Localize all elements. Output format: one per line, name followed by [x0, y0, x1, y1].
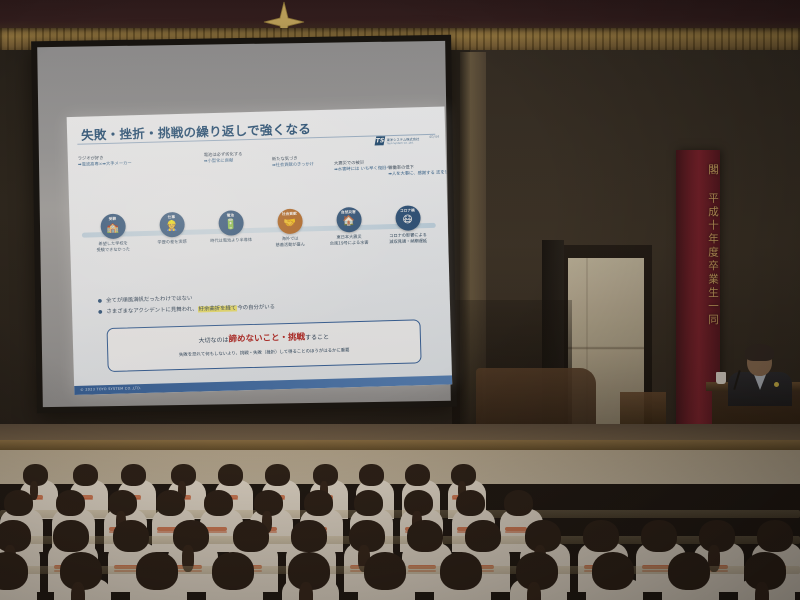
student-hair: [354, 490, 383, 516]
bullet-dot-icon: ●: [98, 297, 103, 307]
annotation-0: ラジオが好き➡電波高専×➡大手メーカー: [78, 155, 132, 169]
student-hair: [440, 552, 483, 590]
audience-student: [54, 552, 113, 600]
mask-icon: コロナ禍😷: [395, 205, 421, 231]
timeline-node-0: 受験🏫希望した学校を受験できなかった: [83, 213, 142, 254]
banner-text: 閣 平成十年度卒業生一同: [676, 164, 720, 328]
logo-mark: TS: [375, 136, 386, 145]
company-logo: TS 東洋システム株式会社 Toyo System Co.,Ltd.: [375, 135, 419, 145]
annotation-4: 稼働率の低下➡人を大事に、感謝する 志を忘れない: [388, 164, 452, 179]
student-hair: [0, 520, 31, 552]
logo-company-name-en: Toyo System Co.,Ltd.: [387, 141, 420, 145]
student-hair: [757, 520, 793, 552]
student-hair: [668, 552, 711, 590]
timeline-node-5: コロナ禍😷コロナの影響による減収見通・納期遅延: [378, 205, 437, 246]
student-hair: [204, 490, 233, 516]
timeline-label-5: コロナの影響による減収見通・納期遅延: [379, 232, 437, 246]
bullet-dot-icon: ●: [98, 308, 103, 318]
timeline-label-0: 希望した学校を受験できなかった: [84, 240, 142, 254]
student-hair: [4, 490, 33, 516]
student-hair: [641, 520, 677, 552]
annotation-3: 大震災での被災➡水害時には いち早く復旧へ: [334, 160, 391, 174]
student-ponytail: [755, 582, 769, 600]
student-hair: [136, 552, 179, 590]
student-hair: [583, 520, 619, 552]
student-hair: [233, 520, 269, 552]
audience-student: [662, 552, 721, 600]
student-hair: [407, 520, 443, 552]
disaster-icon: 自然災害🏠: [336, 207, 362, 233]
audience-student: [206, 552, 265, 600]
student-hair: [364, 552, 407, 590]
student-hair: [405, 464, 429, 486]
conclusion-tail: すること: [305, 334, 329, 342]
lapel-pin-icon: [774, 382, 779, 387]
student-hair: [73, 464, 97, 486]
audience-student: [282, 552, 341, 600]
timeline: 受験🏫希望した学校を受験できなかった仕事👷学歴の差を実感電池🔋時代は電池より半導…: [77, 191, 441, 293]
presentation-slide: 失敗・挫折・挑戦の繰り返しで強くなる TS 東洋システム株式会社 Toyo Sy…: [67, 107, 453, 395]
piano: [476, 368, 596, 428]
student-hair: [212, 552, 255, 590]
conclusion-main: 大切なのは諦めないこと・挑戦すること: [108, 327, 420, 348]
bullet-list: ●全てが順風満帆だったわけではない●さまざまなアクシデントに見舞われ、紆余曲折を…: [98, 287, 434, 317]
conclusion-sub: 失敗を恐れて何もしないより、挑戦・失敗（挫折）して得ることのほうがはるかに重要: [108, 345, 420, 360]
student-hair: [291, 520, 327, 552]
audience-student: [738, 552, 797, 600]
audience-student: [434, 552, 493, 600]
audience-area: [0, 424, 800, 600]
timeline-node-3: 社会貢献🤝海外では慈善活動が盛ん: [260, 208, 319, 249]
conclusion-box: 大切なのは諦めないこと・挑戦すること 失敗を恐れて何もしないより、挑戦・失敗（挫…: [107, 319, 422, 372]
timeline-label-1: 学歴の差を実感: [143, 238, 201, 246]
timeline-label-3: 海外では慈善活動が盛ん: [261, 235, 319, 249]
timeline-node-2: 電池🔋時代は電池より半導体: [201, 210, 260, 245]
timeline-label-4: 東日本大震災台風19号による水害: [320, 233, 378, 247]
audience-student: [0, 552, 39, 600]
student-hair: [265, 464, 289, 486]
battery-icon: 電池🔋: [218, 210, 244, 236]
student-hair: [113, 520, 149, 552]
timeline-node-4: 自然災害🏠東日本大震災台風19号による水害: [319, 206, 378, 247]
wall-rail: [0, 440, 800, 450]
conclusion-lead: 大切なのは: [199, 337, 229, 345]
student-hair: [156, 490, 185, 516]
student-ponytail: [527, 582, 541, 600]
conclusion-emphasis: 諦めないこと・挑戦: [228, 333, 305, 345]
cup: [716, 372, 726, 384]
projection-screen: 失敗・挫折・挑戦の繰り返しで強くなる TS 東洋システム株式会社 Toyo Sy…: [31, 35, 457, 414]
student-hair: [359, 464, 383, 486]
student-hair: [592, 552, 635, 590]
slide-page-number: 40/44: [429, 135, 439, 139]
student-hair: [456, 490, 485, 516]
student-hair: [504, 490, 533, 516]
screen-surface: 失敗・挫折・挑戦の繰り返しで強くなる TS 東洋システム株式会社 Toyo Sy…: [37, 41, 451, 407]
timeline-label-2: 時代は電池より半導体: [202, 237, 260, 245]
student-hair: [53, 520, 89, 552]
audience-student: [130, 552, 189, 600]
bench: [620, 392, 666, 424]
student-ponytail: [71, 582, 85, 600]
annotation-2: 新たな気づき➡社会貢献のきっかけ: [272, 156, 314, 170]
timeline-node-1: 仕事👷学歴の差を実感: [142, 211, 201, 246]
volunteer-icon: 社会貢献🤝: [277, 209, 303, 235]
audience-student: [510, 552, 569, 600]
student-hair: [121, 464, 145, 486]
slide-footer: © 2023 TOYO SYSTEM CO.,LTD.: [74, 375, 452, 395]
student-hair: [304, 490, 333, 516]
presenter-hair: [745, 344, 774, 361]
annotation-1: 電池は必ず劣化する➡小型化に貢献: [204, 152, 243, 166]
student-hair: [56, 490, 85, 516]
student-hair: [465, 520, 501, 552]
school-icon: 受験🏫: [100, 214, 126, 240]
audience-student: [358, 552, 417, 600]
worker-icon: 仕事👷: [159, 212, 185, 238]
audience-student: [586, 552, 645, 600]
student-hair: [0, 552, 28, 590]
student-hair: [218, 464, 242, 486]
photo-scene: 閣 平成十年度卒業生一同 失敗・挫折・挑戦の繰り返しで強くなる TS 東洋システ…: [0, 0, 800, 600]
student-ponytail: [299, 582, 313, 600]
